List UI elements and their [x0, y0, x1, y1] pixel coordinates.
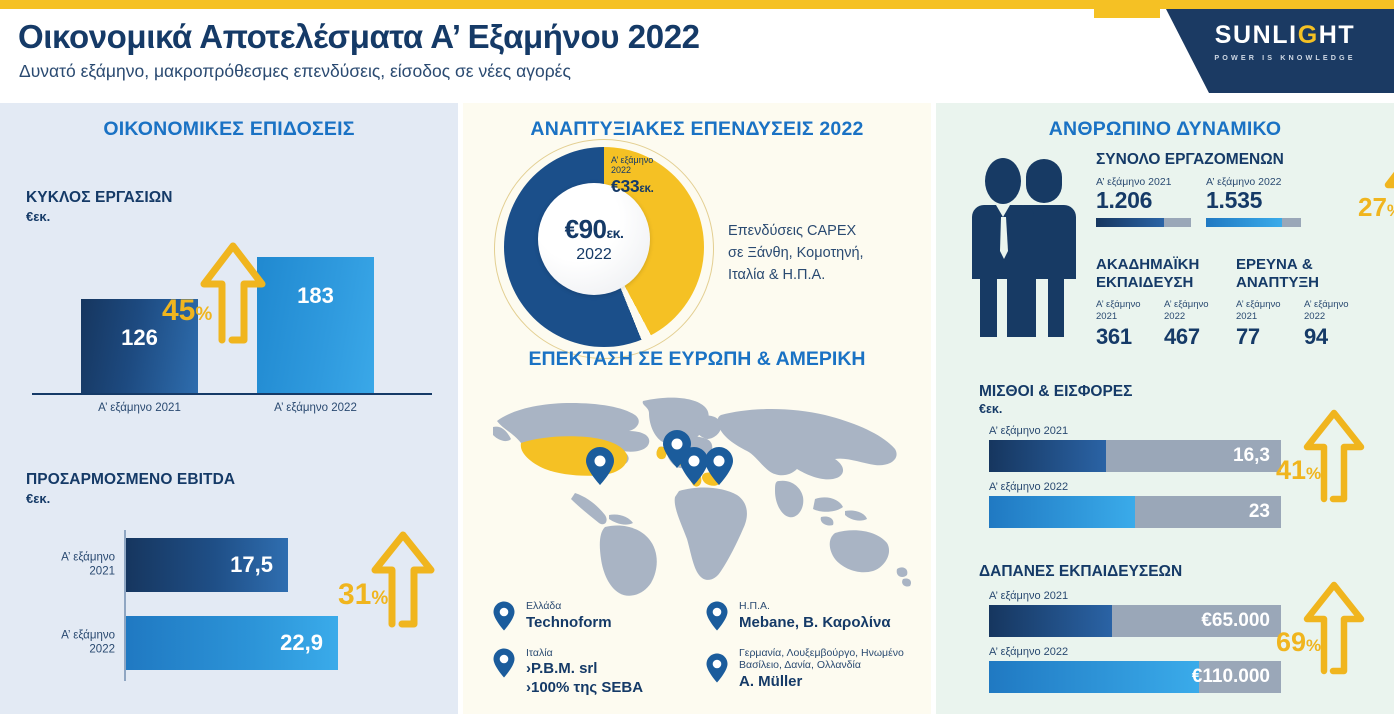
rd-2022-value: 94: [1304, 324, 1366, 350]
page-title: Οικονομικά Αποτελέσματα Α’ Εξαμήνου 2022: [18, 18, 700, 56]
map-pin-usa[interactable]: [586, 447, 614, 485]
people-icon: [966, 153, 1082, 343]
research-development-section: ΕΡΕΥΝΑ & ΑΝΑΠΤΥΞΗ Α’ εξάμηνο 2021 77 Α’ …: [1236, 256, 1371, 353]
employees-icon: [966, 153, 1082, 348]
ebitda-row-2021-label: Α’ εξάμηνο 2021: [20, 551, 115, 580]
total-employees-2022-track: [1206, 218, 1301, 227]
ebitda-row-2022-bar: 22,9: [126, 616, 338, 670]
rd-2022: Α’ εξάμηνο 2022 94: [1304, 299, 1366, 350]
turnover-growth-symbol: %: [195, 304, 212, 325]
research-development-title: ΕΡΕΥΝΑ & ΑΝΑΠΤΥΞΗ: [1236, 256, 1371, 291]
salaries-growth-number: 41: [1276, 455, 1306, 485]
training-row-2021-track: €65.000: [989, 605, 1281, 637]
total-employees-2021-track: [1096, 218, 1191, 227]
rd-2021: Α’ εξάμηνο 2021 77: [1236, 299, 1298, 350]
ebitda-row-2021: Α’ εξάμηνο 2021 17,5: [126, 538, 288, 592]
location-name: Technoform: [526, 614, 691, 633]
academic-education-title: ΑΚΑΔΗΜΑΪΚΗ ΕΚΠΑΙΔΕΥΣΗ: [1096, 256, 1231, 291]
investments-donut-chart: €90εκ. 2022 Α’ εξάμηνο 2022 €33εκ.: [494, 139, 714, 359]
training-row-2021-fill: [989, 605, 1112, 637]
salaries-row-2021-value: 16,3: [1233, 445, 1270, 467]
location-country: Γερμανία, Λουξεμβούργο, Ηνωμένο Βασίλειο…: [739, 647, 921, 673]
total-employees-growth-symbol: %: [1387, 201, 1394, 220]
academic-2021-label: Α’ εξάμηνο 2021: [1096, 299, 1158, 322]
turnover-growth-text: 45%: [162, 294, 212, 328]
salaries-row-2021-track: 16,3: [989, 440, 1281, 472]
total-employees-title: ΣΥΝΟΛΟ ΕΡΓΑΖΟΜΕΝΩΝ: [1096, 151, 1376, 169]
locations-column-right: Η.Π.Α. Mebane, Β. Καρολίνα Γερμανία, Λου…: [706, 600, 921, 706]
ebitda-unit: €εκ.: [26, 491, 438, 506]
turnover-unit: €εκ.: [26, 209, 436, 224]
donut-center-unit: εκ.: [607, 225, 624, 241]
ebitda-row-2022-label: Α’ εξάμηνο 2022: [20, 629, 115, 658]
donut-center-year: 2022: [576, 246, 612, 264]
donut-segment-value: 33: [620, 176, 639, 196]
total-employees-growth-indicator: 27%: [1364, 145, 1394, 248]
research-development-stats: Α’ εξάμηνο 2021 77 Α’ εξάμηνο 2022 94: [1236, 299, 1371, 353]
academic-2022-value: 467: [1164, 324, 1226, 350]
infographic-root: Οικονομικά Αποτελέσματα Α’ Εξαμήνου 2022…: [0, 0, 1394, 714]
panel-human-resources: ΑΝΘΡΩΠΙΝΟ ΔΥΝΑΜΙΚΟ ΣΥΝΟΛΟ ΕΡΓΑΖΟΜΕΝΩΝ: [936, 103, 1394, 714]
total-employees-2021-fill: [1096, 218, 1164, 227]
total-employees-2022: Α’ εξάμηνο 2022 1.535: [1206, 176, 1318, 227]
academic-education-section: ΑΚΑΔΗΜΑΪΚΗ ΕΚΠΑΙΔΕΥΣΗ Α’ εξάμηνο 2021 36…: [1096, 256, 1231, 353]
donut-center-currency: €: [565, 214, 579, 244]
ebitda-row-2021-bar: 17,5: [126, 538, 288, 592]
donut-segment-unit: εκ.: [639, 183, 653, 195]
total-employees-stats: Α’ εξάμηνο 2021 1.206 Α’ εξάμηνο 2022 1.…: [1096, 176, 1376, 230]
salaries-row-2021-fill: [989, 440, 1106, 472]
location-name: ›P.B.M. srl ›100% της SEBA: [526, 660, 691, 698]
location-pin-icon: [493, 601, 515, 636]
location-country: Η.Π.Α.: [739, 600, 921, 613]
ebitda-growth-number: 31: [338, 578, 371, 611]
academic-education-stats: Α’ εξάμηνο 2021 361 Α’ εξάμηνο 2022 467: [1096, 299, 1231, 353]
panel-development-investments: ΑΝΑΠΤΥΞΙΑΚΕΣ ΕΠΕΝΔΥΣΕΙΣ 2022 €90εκ. 2022…: [463, 103, 931, 714]
location-country: Ελλάδα: [526, 600, 691, 613]
training-growth-number: 69: [1276, 627, 1306, 657]
logo-wordmark: SUNLIGHT: [1202, 23, 1368, 48]
panel-left-title: ΟΙΚΟΝΟΜΙΚΕΣ ΕΠΙΔΟΣΕΙΣ: [0, 118, 458, 141]
ebitda-growth-indicator: 31%: [348, 528, 458, 638]
turnover-bar-2021-label: Α’ εξάμηνο 2021: [59, 402, 220, 414]
total-employees-section: ΣΥΝΟΛΟ ΕΡΓΑΖΟΜΕΝΩΝ Α’ εξάμηνο 2021 1.206…: [1096, 151, 1376, 230]
turnover-growth-number: 45: [162, 294, 195, 327]
salaries-section: ΜΙΣΘΟΙ & ΕΙΣΦΟΡΕΣ €εκ. Α’ εξάμηνο 2021 1…: [979, 383, 1379, 528]
turnover-title: ΚΥΚΛΟΣ ΕΡΓΑΣΙΩΝ: [26, 189, 436, 207]
capex-description: Επενδύσεις CAPEX σε Ξάνθη, Κομοτηνή, Ιτα…: [728, 220, 918, 286]
page-header: Οικονομικά Αποτελέσματα Α’ Εξαμήνου 2022…: [0, 9, 1394, 103]
world-map-svg: [483, 381, 913, 599]
salaries-growth-symbol: %: [1306, 464, 1321, 483]
location-item: Γερμανία, Λουξεμβούργο, Ηνωμένο Βασίλειο…: [706, 647, 921, 692]
turnover-axis: [32, 393, 432, 395]
ebitda-row-2022: Α’ εξάμηνο 2022 22,9: [126, 616, 338, 670]
map-continents: [493, 398, 911, 596]
donut-segment-label: Α’ εξάμηνο 2022 €33εκ.: [611, 155, 705, 197]
salaries-growth-indicator: 41%: [1284, 407, 1384, 512]
expansion-title: ΕΠΕΚΤΑΣΗ ΣΕ ΕΥΡΩΠΗ & ΑΜΕΡΙΚΗ: [463, 348, 931, 371]
ebitda-row-2021-value: 17,5: [230, 552, 273, 578]
ebitda-growth-text: 31%: [338, 578, 388, 612]
ebitda-growth-symbol: %: [371, 588, 388, 609]
total-employees-2022-fill: [1206, 218, 1282, 227]
turnover-chart: 126 Α’ εξάμηνο 2021 183 Α’ εξάμηνο 2022 …: [26, 246, 436, 421]
location-country: Ιταλία: [526, 647, 691, 660]
training-row-2022-fill: [989, 661, 1199, 693]
donut-center-amount: €90εκ.: [565, 214, 624, 245]
salaries-row-2022-value: 23: [1249, 501, 1270, 523]
location-name: A. Müller: [739, 673, 921, 692]
location-item: Ελλάδα Technoform: [493, 600, 691, 633]
total-employees-growth-text: 27%: [1358, 192, 1394, 223]
donut-center: €90εκ. 2022: [538, 183, 650, 295]
training-row-2022-value: €110.000: [1192, 666, 1270, 688]
ebitda-chart: Α’ εξάμηνο 2021 17,5 Α’ εξάμηνο 2022 22,…: [26, 528, 438, 703]
logo-tagline: POWER IS KNOWLEDGE: [1202, 53, 1368, 62]
ebitda-title: ΠΡΟΣΑΡΜΟΣΜΕΝΟ EBITDA: [26, 471, 438, 489]
training-growth-symbol: %: [1306, 636, 1321, 655]
panel-mid-title: ΑΝΑΠΤΥΞΙΑΚΕΣ ΕΠΕΝΔΥΣΕΙΣ 2022: [463, 118, 931, 141]
academic-2022: Α’ εξάμηνο 2022 467: [1164, 299, 1226, 350]
up-arrow-icon: [166, 236, 296, 346]
donut-segment-period: Α’ εξάμηνο: [611, 155, 705, 165]
world-map: [483, 381, 913, 599]
total-employees-growth-number: 27: [1358, 192, 1387, 222]
logo-text-part3: G: [1298, 23, 1319, 48]
salaries-row-2022-track: 23: [989, 496, 1281, 528]
panel-right-title: ΑΝΘΡΩΠΙΝΟ ΔΥΝΑΜΙΚΟ: [936, 118, 1394, 141]
panel-financial-performance: ΟΙΚΟΝΟΜΙΚΕΣ ΕΠΙΔΟΣΕΙΣ ΚΥΚΛΟΣ ΕΡΓΑΣΙΩΝ €ε…: [0, 103, 458, 714]
total-employees-2022-value: 1.535: [1206, 188, 1318, 214]
sunlight-logo: SUNLIGHT POWER IS KNOWLEDGE: [1202, 23, 1368, 62]
page-subtitle: Δυνατό εξάμηνο, μακροπρόθεσμες επενδύσει…: [19, 61, 571, 82]
ebitda-row-2022-value: 22,9: [280, 630, 323, 656]
location-pin-icon: [706, 601, 728, 636]
turnover-growth-indicator: 45%: [166, 236, 296, 351]
turnover-section: ΚΥΚΛΟΣ ΕΡΓΑΣΙΩΝ €εκ. 126 Α’ εξάμηνο 2021…: [26, 189, 436, 421]
turnover-bar-2022-label: Α’ εξάμηνο 2022: [235, 402, 396, 414]
locations-column-left: Ελλάδα Technoform Ιταλία ›P.B.M. srl ›10…: [493, 600, 691, 712]
academic-2021: Α’ εξάμηνο 2021 361: [1096, 299, 1158, 350]
donut-segment-year: 2022: [611, 165, 705, 175]
logo-text-part2: NLI: [1253, 23, 1298, 48]
training-expenses-section: ΔΑΠΑΝΕΣ ΕΚΠΑΙΔΕΥΣΕΩΝ Α’ εξάμηνο 2021 €65…: [979, 563, 1379, 693]
ebitda-section: ΠΡΟΣΑΡΜΟΣΜΕΝΟ EBITDA €εκ. Α’ εξάμηνο 202…: [26, 471, 438, 703]
academic-2021-value: 361: [1096, 324, 1158, 350]
top-accent-stripe: [0, 0, 1394, 9]
training-growth-indicator: 69%: [1284, 579, 1384, 684]
rd-2021-label: Α’ εξάμηνο 2021: [1236, 299, 1298, 322]
location-pin-icon: [706, 653, 728, 688]
rd-2022-label: Α’ εξάμηνο 2022: [1304, 299, 1366, 322]
logo-text-part4: HT: [1319, 23, 1356, 48]
training-growth-text: 69%: [1276, 627, 1321, 658]
donut-center-value: 90: [579, 214, 607, 244]
salaries-title: ΜΙΣΘΟΙ & ΕΙΣΦΟΡΕΣ: [979, 383, 1379, 401]
training-row-2021-value: €65.000: [1201, 610, 1270, 632]
location-pin-icon: [493, 648, 515, 683]
location-item: Η.Π.Α. Mebane, Β. Καρολίνα: [706, 600, 921, 633]
brand-yellow-accent: [1094, 9, 1160, 18]
total-employees-2021: Α’ εξάμηνο 2021 1.206: [1096, 176, 1208, 227]
training-row-2022-track: €110.000: [989, 661, 1281, 693]
rd-2021-value: 77: [1236, 324, 1298, 350]
location-name: Mebane, Β. Καρολίνα: [739, 614, 921, 633]
donut-segment-amount: €33εκ.: [611, 177, 705, 197]
total-employees-2021-value: 1.206: [1096, 188, 1208, 214]
location-item: Ιταλία ›P.B.M. srl ›100% της SEBA: [493, 647, 691, 698]
salaries-growth-text: 41%: [1276, 455, 1321, 486]
salaries-row-2022-fill: [989, 496, 1135, 528]
academic-2022-label: Α’ εξάμηνο 2022: [1164, 299, 1226, 322]
logo-text-part1: SU: [1215, 23, 1253, 48]
